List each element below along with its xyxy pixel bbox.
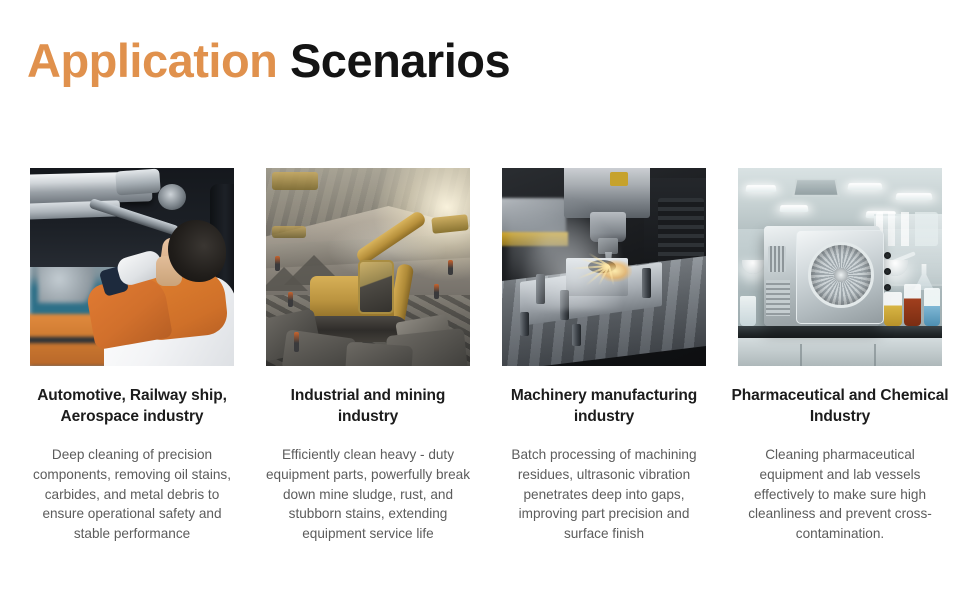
scenario-card-machinery[interactable]: Machinery manufacturing industry Batch p… (502, 168, 706, 544)
card-title: Pharmaceutical and Chemical Industry (731, 386, 949, 427)
scenario-card-pharmaceutical[interactable]: Pharmaceutical and Chemical Industry Cle… (738, 168, 942, 544)
card-description: Efficiently clean heavy - duty equipment… (262, 445, 474, 544)
page-title-plain: Scenarios (290, 34, 510, 87)
card-title: Automotive, Railway ship, Aerospace indu… (23, 386, 241, 427)
card-title: Industrial and mining industry (259, 386, 477, 427)
mining-excavator-image (266, 168, 470, 366)
scenario-card-mining[interactable]: Industrial and mining industry Efficient… (266, 168, 470, 544)
automotive-undercarriage-image (30, 168, 234, 366)
cnc-milling-image (502, 168, 706, 366)
laboratory-autoclave-image (738, 168, 942, 366)
scenario-card-automotive[interactable]: Automotive, Railway ship, Aerospace indu… (30, 168, 234, 544)
card-description: Deep cleaning of precision components, r… (23, 445, 241, 544)
scenario-card-grid: Automotive, Railway ship, Aerospace indu… (0, 168, 970, 544)
page-title-accent: Application (27, 34, 277, 87)
card-description: Batch processing of machining residues, … (498, 445, 710, 544)
card-title: Machinery manufacturing industry (495, 386, 713, 427)
card-description: Cleaning pharmaceutical equipment and la… (740, 445, 940, 544)
page-title: Application Scenarios (27, 36, 510, 87)
